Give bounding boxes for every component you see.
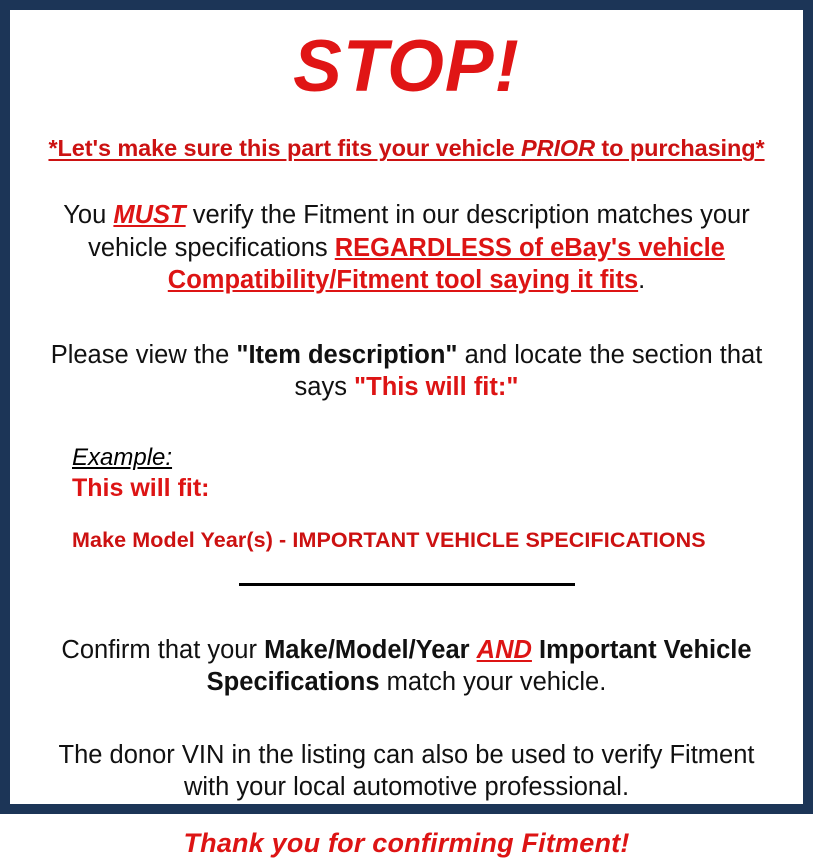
paragraph-donor-vin: The donor VIN in the listing can also be… <box>24 739 789 803</box>
divider-wrapper <box>24 576 789 594</box>
emphasis-item-description: "Item description" <box>236 341 457 369</box>
confirm-space-1 <box>470 636 477 664</box>
emphasis-make-model-year: Make/Model/Year <box>264 636 470 664</box>
fitment-notice-panel: STOP! *Let's make sure this part fits yo… <box>0 0 813 814</box>
must-text-1: You <box>63 201 113 229</box>
paragraph-confirm: Confirm that your Make/Model/Year AND Im… <box>24 634 789 698</box>
subtitle-line: *Let's make sure this part fits your veh… <box>24 135 789 162</box>
subtitle-emphasis-prior: PRIOR <box>521 135 595 161</box>
subtitle-text-after: to purchasing* <box>595 135 765 161</box>
thank-you-line: Thank you for confirming Fitment! <box>24 828 789 859</box>
stop-heading: STOP! <box>24 30 789 104</box>
emphasis-must: MUST <box>113 201 185 229</box>
paragraph-must-verify: You MUST verify the Fitment in our descr… <box>24 199 789 295</box>
example-spec-line: Make Model Year(s) - IMPORTANT VEHICLE S… <box>72 528 789 553</box>
paragraph-please-view: Please view the "Item description" and l… <box>24 339 789 403</box>
example-block: Example: This will fit: Make Model Year(… <box>24 445 789 553</box>
emphasis-and: AND <box>477 636 532 664</box>
confirm-text-2: match your vehicle. <box>380 668 607 696</box>
please-text-1: Please view the <box>51 341 237 369</box>
subtitle-text-before: *Let's make sure this part fits your veh… <box>48 135 521 161</box>
confirm-space-2 <box>532 636 539 664</box>
emphasis-this-will-fit: "This will fit:" <box>354 373 518 401</box>
confirm-text-1: Confirm that your <box>61 636 264 664</box>
horizontal-divider <box>239 583 575 586</box>
must-text-3: . <box>638 266 645 294</box>
example-label: Example: <box>72 445 789 471</box>
example-fit-header: This will fit: <box>72 473 789 503</box>
